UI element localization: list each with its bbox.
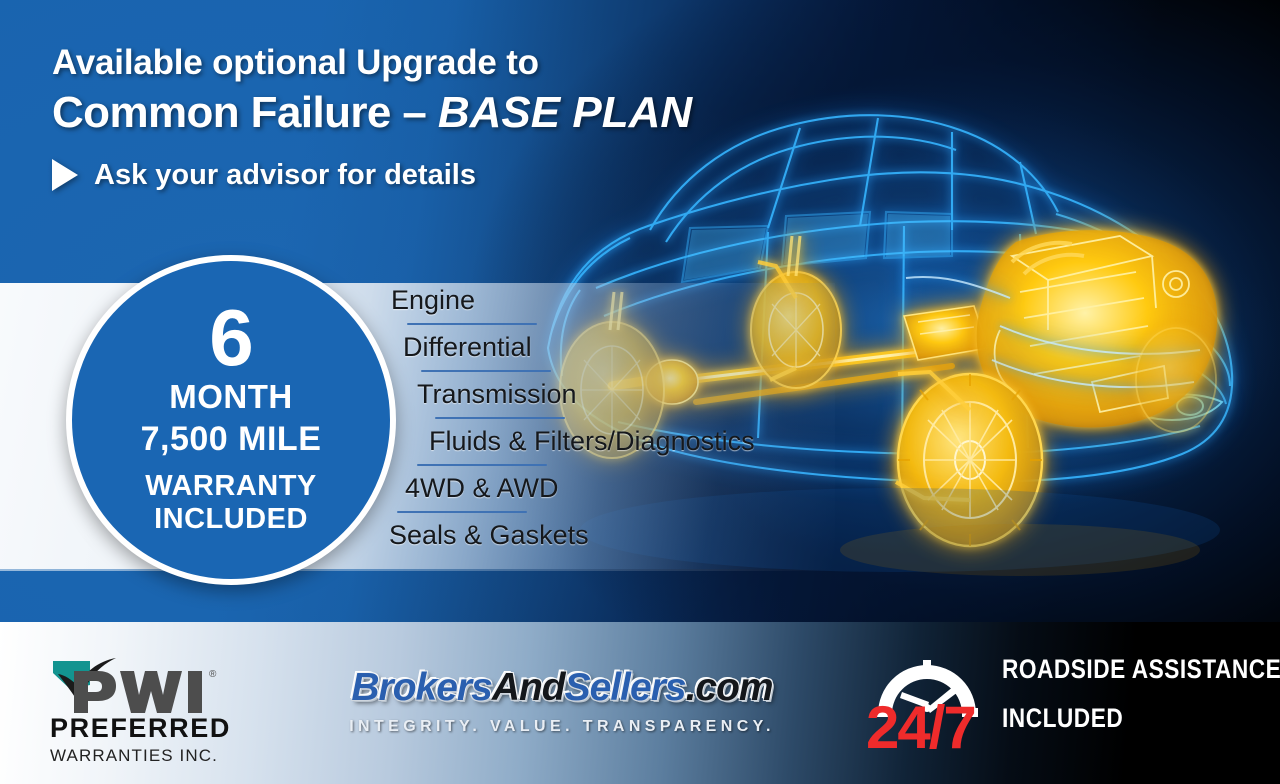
cta-text: Ask your advisor for details bbox=[94, 159, 476, 192]
headline-block: Available optional Upgrade to Common Fai… bbox=[52, 44, 772, 192]
list-item: Fluids & Filters/Diagnostics bbox=[385, 428, 855, 466]
wordmark-part-brokers: Brokers bbox=[351, 666, 491, 709]
list-item: Engine bbox=[385, 287, 855, 325]
list-item: 4WD & AWD bbox=[385, 475, 855, 513]
badge-mileage: 7,500 MILE bbox=[141, 420, 322, 459]
coverage-label: Seals & Gaskets bbox=[389, 522, 855, 549]
roadside-hours: 24/7 bbox=[866, 698, 975, 758]
list-item: Transmission bbox=[385, 381, 855, 419]
wordmark-part-sellers: Sellers bbox=[565, 666, 686, 709]
headline-plan-name: BASE PLAN bbox=[438, 88, 692, 137]
badge-term-unit: MONTH bbox=[169, 378, 292, 416]
list-item: Seals & Gaskets bbox=[385, 522, 855, 549]
wordmark-part-dotcom: .com bbox=[686, 666, 773, 709]
coverage-divider bbox=[407, 323, 537, 325]
brokersandsellers-logo[interactable]: BrokersAndSellers.com INTEGRITY. VALUE. … bbox=[312, 668, 812, 736]
pwi-logo: ® PREFERRED WARRANTIES INC. bbox=[50, 655, 230, 764]
coverage-divider bbox=[435, 417, 565, 419]
play-triangle-icon bbox=[52, 159, 78, 191]
coverage-label: 4WD & AWD bbox=[405, 475, 855, 502]
headline-line-1: Available optional Upgrade to bbox=[52, 44, 772, 83]
brokersandsellers-wordmark: BrokersAndSellers.com bbox=[312, 668, 812, 707]
coverage-divider bbox=[417, 464, 547, 466]
coverage-list: Engine Differential Transmission Fluids … bbox=[385, 287, 855, 549]
roadside-line-1: ROADSIDE ASSISTANCE bbox=[1002, 656, 1280, 683]
pwi-wordmark-graphic: ® bbox=[50, 655, 230, 713]
wordmark-part-and: And bbox=[492, 666, 565, 709]
cta-row: Ask your advisor for details bbox=[52, 159, 772, 192]
list-item: Differential bbox=[385, 334, 855, 372]
coverage-label: Engine bbox=[391, 287, 855, 314]
clock-icon: 24/7 bbox=[868, 636, 986, 754]
pwi-name-line-1: PREFERRED bbox=[50, 715, 230, 742]
coverage-label: Fluids & Filters/Diagnostics bbox=[429, 428, 855, 455]
badge-warranty-text: WARRANTYINCLUDED bbox=[145, 470, 317, 535]
coverage-divider bbox=[397, 511, 527, 513]
badge-warranty-line-2: INCLUDED bbox=[154, 503, 308, 535]
coverage-label: Differential bbox=[403, 334, 855, 361]
badge-term-number: 6 bbox=[209, 301, 253, 375]
brokersandsellers-tagline: INTEGRITY. VALUE. TRANSPARENCY. bbox=[312, 718, 812, 736]
coverage-label: Transmission bbox=[417, 381, 855, 408]
headline-line-2: Common Failure – BASE PLAN bbox=[52, 89, 772, 137]
roadside-line-2: INCLUDED bbox=[1002, 705, 1280, 732]
roadside-text-block: ROADSIDE ASSISTANCE INCLUDED bbox=[1002, 636, 1280, 732]
headline-line-2-prefix: Common Failure – bbox=[52, 88, 438, 137]
pwi-name-line-2: WARRANTIES INC. bbox=[50, 747, 230, 764]
badge-warranty-line-1: WARRANTY bbox=[145, 470, 317, 502]
warranty-advertisement: Available optional Upgrade to Common Fai… bbox=[0, 0, 1280, 784]
registered-mark: ® bbox=[209, 669, 217, 680]
warranty-badge: 6 MONTH 7,500 MILE WARRANTYINCLUDED bbox=[66, 255, 396, 585]
roadside-assistance-block: 24/7 ROADSIDE ASSISTANCE INCLUDED bbox=[868, 636, 1280, 754]
coverage-divider bbox=[421, 370, 551, 372]
